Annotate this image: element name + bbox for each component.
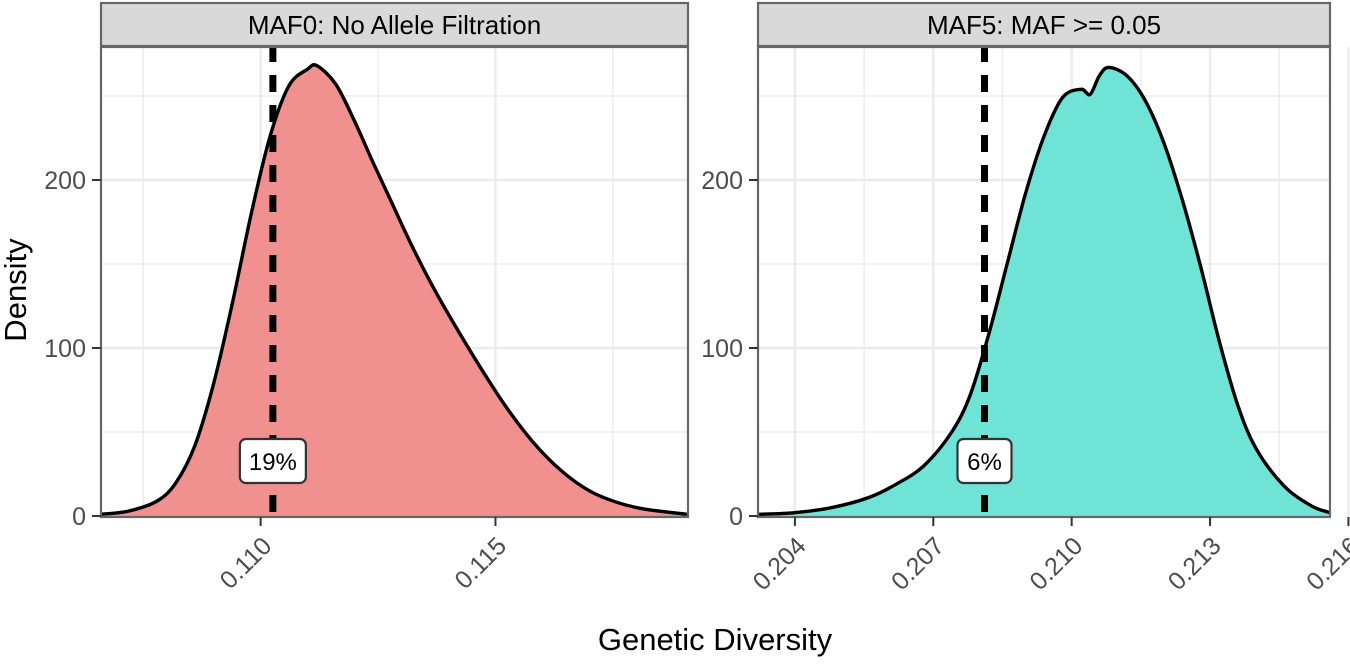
annotation-label: 19% — [240, 439, 306, 483]
y-axis-title: Density — [0, 238, 33, 342]
y-tick-label: 0 — [729, 503, 743, 531]
facet-panel-1: MAF0: No Allele Filtration19%0.1100.1150… — [44, 3, 688, 595]
y-tick-label: 100 — [44, 335, 86, 363]
annotation-label: 6% — [957, 439, 1011, 483]
strip-label: MAF0: No Allele Filtration — [248, 10, 541, 40]
y-tick-label: 200 — [701, 167, 743, 195]
density-plot-figure: Density Genetic Diversity MAF0: No Allel… — [0, 0, 1350, 665]
y-tick-label: 0 — [72, 503, 86, 531]
y-tick-label: 200 — [44, 167, 86, 195]
facet-panel-2: MAF5: MAF >= 0.056%0.2040.2070.2100.2130… — [701, 3, 1350, 596]
figure-container: Density Genetic Diversity MAF0: No Allel… — [0, 0, 1350, 665]
annotation-label-text: 19% — [249, 449, 297, 476]
annotation-label-text: 6% — [967, 449, 1002, 476]
y-tick-label: 100 — [701, 335, 743, 363]
x-axis-title: Genetic Diversity — [598, 622, 833, 657]
strip-label: MAF5: MAF >= 0.05 — [927, 10, 1161, 40]
